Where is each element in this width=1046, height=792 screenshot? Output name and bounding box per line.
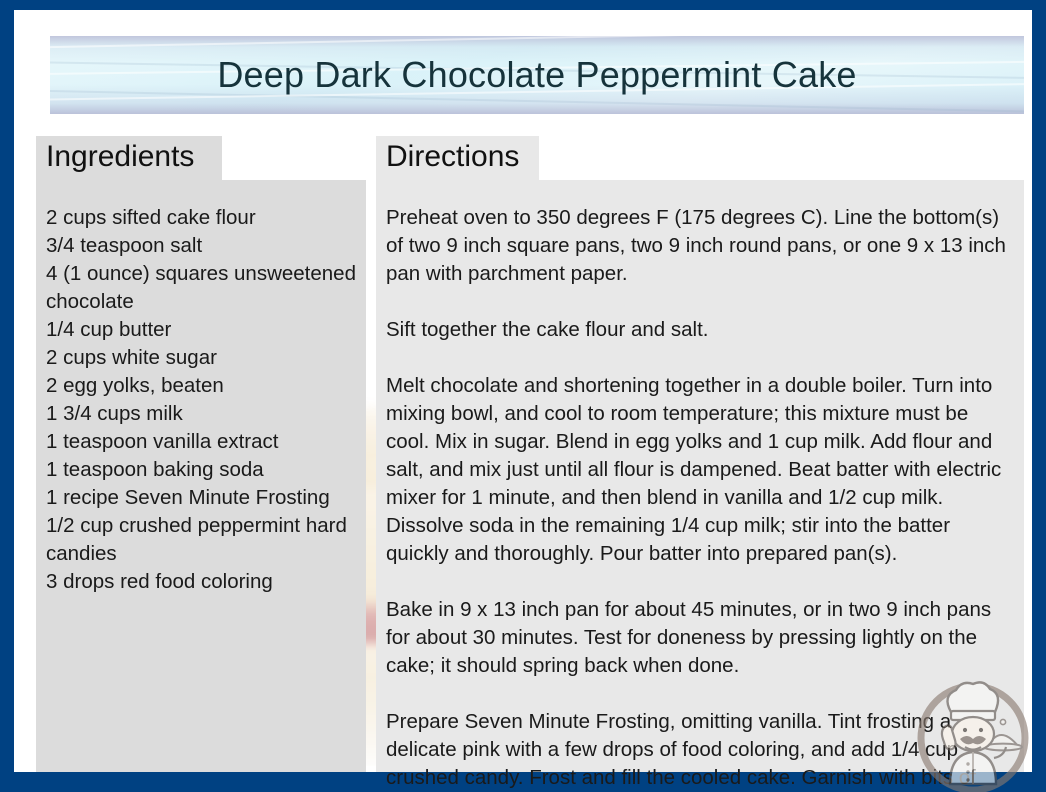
ingredients-panel: 2 cups sifted cake flour 3/4 teaspoon sa… <box>36 136 366 772</box>
direction-step: Sift together the cake flour and salt. <box>386 316 1014 344</box>
list-item: 1/2 cup crushed peppermint hard candies <box>46 512 356 568</box>
list-item: 4 (1 ounce) squares unsweetened chocolat… <box>46 260 356 316</box>
recipe-title: Deep Dark Chocolate Peppermint Cake <box>50 54 1024 96</box>
ingredients-content: 2 cups sifted cake flour 3/4 teaspoon sa… <box>36 180 366 596</box>
ingredients-panel-body: 2 cups sifted cake flour 3/4 teaspoon sa… <box>36 180 366 772</box>
list-item: 1/4 cup butter <box>46 316 356 344</box>
page-surface: Deep Dark Chocolate Peppermint Cake 2 cu… <box>14 10 1032 772</box>
ingredients-heading: Ingredients <box>46 140 194 174</box>
list-item: 1 teaspoon baking soda <box>46 456 356 484</box>
list-item: 1 3/4 cups milk <box>46 400 356 428</box>
ingredients-heading-tab: Ingredients <box>36 136 222 180</box>
directions-panel-body: Preheat oven to 350 degrees F (175 degre… <box>376 180 1024 772</box>
directions-heading: Directions <box>386 140 519 174</box>
directions-steps: Preheat oven to 350 degrees F (175 degre… <box>386 204 1014 792</box>
directions-content: Preheat oven to 350 degrees F (175 degre… <box>376 180 1024 792</box>
list-item: 1 teaspoon vanilla extract <box>46 428 356 456</box>
ingredients-list: 2 cups sifted cake flour 3/4 teaspoon sa… <box>46 204 356 596</box>
list-item: 3 drops red food coloring <box>46 568 356 596</box>
banner-wave-decoration <box>50 36 1024 50</box>
direction-step: Prepare Seven Minute Frosting, omitting … <box>386 708 1014 792</box>
list-item: 3/4 teaspoon salt <box>46 232 356 260</box>
direction-step: Melt chocolate and shortening together i… <box>386 372 1014 568</box>
list-item: 2 egg yolks, beaten <box>46 372 356 400</box>
direction-step: Bake in 9 x 13 inch pan for about 45 min… <box>386 596 1014 680</box>
directions-panel: Preheat oven to 350 degrees F (175 degre… <box>376 136 1024 772</box>
list-item: 2 cups sifted cake flour <box>46 204 356 232</box>
list-item: 2 cups white sugar <box>46 344 356 372</box>
direction-step: Preheat oven to 350 degrees F (175 degre… <box>386 204 1014 288</box>
title-banner: Deep Dark Chocolate Peppermint Cake <box>50 36 1024 114</box>
recipe-card: Deep Dark Chocolate Peppermint Cake 2 cu… <box>0 0 1046 792</box>
list-item: 1 recipe Seven Minute Frosting <box>46 484 356 512</box>
directions-heading-tab: Directions <box>376 136 539 180</box>
